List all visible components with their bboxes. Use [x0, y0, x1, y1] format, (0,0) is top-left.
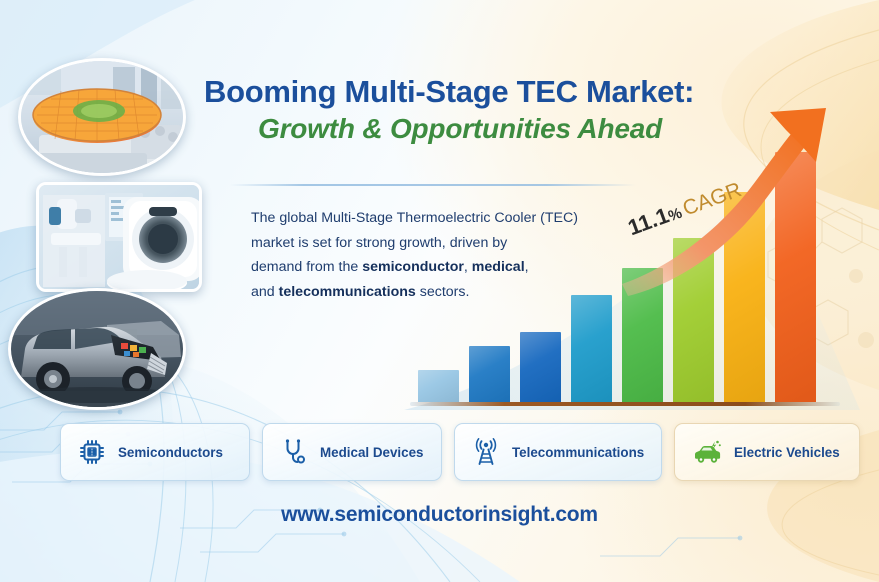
chart-bar — [520, 332, 561, 402]
category-card-row: Semiconductors Medical Devices Telecommu… — [60, 423, 868, 481]
electric-car-icon — [691, 437, 723, 467]
category-card-medical-devices[interactable]: Medical Devices — [262, 423, 442, 481]
keyword-telecommunications: telecommunications — [279, 284, 416, 300]
chart-bar — [418, 370, 459, 402]
category-card-electric-vehicles[interactable]: Electric Vehicles — [674, 423, 860, 481]
antenna-tower-icon — [471, 437, 501, 467]
category-card-label: Medical Devices — [320, 445, 423, 460]
category-card-label: Telecommunications — [512, 445, 644, 460]
microchip-icon — [77, 437, 107, 467]
category-card-semiconductors[interactable]: Semiconductors — [60, 423, 250, 481]
category-card-telecommunications[interactable]: Telecommunications — [454, 423, 662, 481]
description-line-4-prefix: and — [251, 284, 279, 300]
chart-baseline — [410, 402, 840, 406]
category-card-label: Electric Vehicles — [734, 445, 840, 460]
growth-bar-chart — [404, 120, 844, 410]
category-card-label: Semiconductors — [118, 445, 223, 460]
description-line-3-prefix: demand from the — [251, 259, 362, 275]
website-url[interactable]: www.semiconductorinsight.com — [0, 503, 879, 527]
infographic-canvas: Booming Multi-Stage TEC Market: Growth &… — [0, 0, 879, 582]
stethoscope-icon — [279, 437, 309, 467]
mri-scanner-photo — [36, 182, 202, 292]
page-title: Booming Multi-Stage TEC Market: — [204, 74, 764, 109]
silicon-wafer-photo — [18, 58, 186, 176]
electric-vehicle-photo — [8, 288, 186, 410]
chart-bar — [469, 346, 510, 402]
chart-bar — [571, 295, 612, 402]
